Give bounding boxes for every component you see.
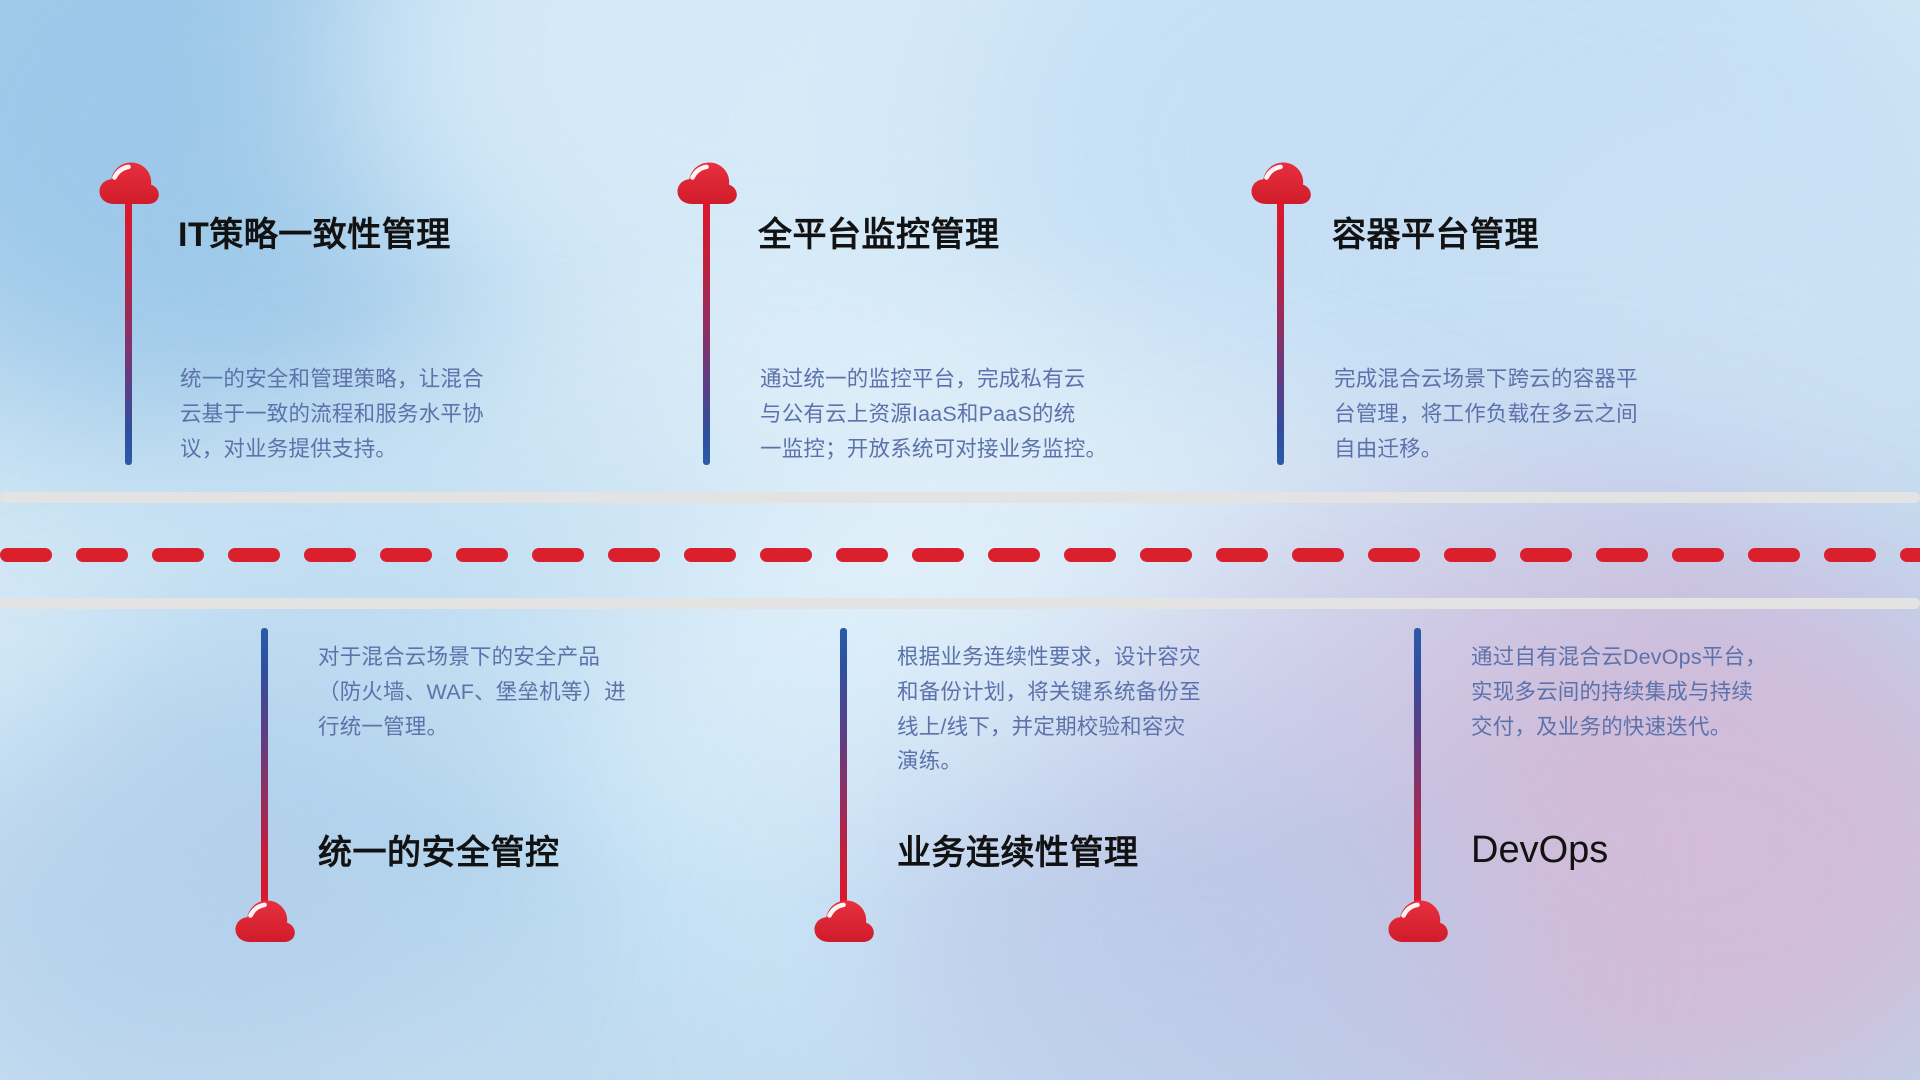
stem-line (125, 200, 132, 465)
road-dash (988, 548, 1040, 562)
description-line: 统一的安全和管理策略，让混合 (180, 362, 600, 397)
road-dash (1824, 548, 1876, 562)
description-line: （防火墙、WAF、堡垒机等）进 (318, 675, 738, 710)
road-dash (1520, 548, 1572, 562)
description-line: 通过统一的监控平台，完成私有云 (760, 362, 1180, 397)
description-line: 云基于一致的流程和服务水平协 (180, 397, 600, 432)
stem-line (1277, 200, 1284, 465)
description-line: 议，对业务提供支持。 (180, 432, 600, 467)
road-dash (684, 548, 736, 562)
item-title: 容器平台管理 (1332, 217, 1539, 254)
stem-line (703, 200, 710, 465)
road-dash (0, 548, 52, 562)
road-dash (1368, 548, 1420, 562)
road-dash (1900, 548, 1920, 562)
description-line: 通过自有混合云DevOps平台， (1471, 640, 1891, 675)
description-line: 与公有云上资源IaaS和PaaS的统 (760, 397, 1180, 432)
item-title: 全平台监控管理 (758, 217, 1000, 254)
item-title: DevOps (1471, 830, 1608, 872)
item-title: 统一的安全管控 (318, 835, 560, 872)
item-description: 统一的安全和管理策略，让混合 云基于一致的流程和服务水平协 议，对业务提供支持。 (180, 362, 600, 466)
item-description: 根据业务连续性要求，设计容灾 和备份计划，将关键系统备份至 线上/线下，并定期校… (897, 640, 1317, 779)
infographic-canvas: IT策略一致性管理 统一的安全和管理策略，让混合 云基于一致的流程和服务水平协 … (0, 0, 1920, 1080)
road-edge-top (0, 492, 1920, 503)
road-center-dashes (0, 547, 1920, 563)
road-dash (760, 548, 812, 562)
description-line: 台管理，将工作负载在多云之间 (1334, 397, 1754, 432)
description-line: 和备份计划，将关键系统备份至 (897, 675, 1317, 710)
description-line: 交付，及业务的快速迭代。 (1471, 710, 1891, 745)
item-description: 通过自有混合云DevOps平台， 实现多云间的持续集成与持续 交付，及业务的快速… (1471, 640, 1891, 744)
item-title: IT策略一致性管理 (178, 217, 451, 254)
description-line: 对于混合云场景下的安全产品 (318, 640, 738, 675)
road-dash (76, 548, 128, 562)
description-line: 线上/线下，并定期校验和容灾 (897, 710, 1317, 745)
road-dash (1672, 548, 1724, 562)
cloud-icon (813, 898, 875, 944)
road-dash (304, 548, 356, 562)
road-dash (1444, 548, 1496, 562)
road-dash (912, 548, 964, 562)
road-dash (532, 548, 584, 562)
description-line: 一监控；开放系统可对接业务监控。 (760, 432, 1180, 467)
road-dash (1596, 548, 1648, 562)
road-dash (1748, 548, 1800, 562)
item-description: 完成混合云场景下跨云的容器平 台管理，将工作负载在多云之间 自由迁移。 (1334, 362, 1754, 466)
item-title: 业务连续性管理 (897, 835, 1139, 872)
road-dash (1216, 548, 1268, 562)
stem-line (261, 628, 268, 910)
road-dash (836, 548, 888, 562)
cloud-icon (234, 898, 296, 944)
road-dash (456, 548, 508, 562)
road-dash (152, 548, 204, 562)
stem-line (840, 628, 847, 910)
item-description: 对于混合云场景下的安全产品 （防火墙、WAF、堡垒机等）进 行统一管理。 (318, 640, 738, 744)
description-line: 行统一管理。 (318, 710, 738, 745)
road-dash (228, 548, 280, 562)
item-description: 通过统一的监控平台，完成私有云 与公有云上资源IaaS和PaaS的统 一监控；开… (760, 362, 1180, 466)
road-edge-bottom (0, 598, 1920, 609)
cloud-icon (1387, 898, 1449, 944)
road-dash (608, 548, 660, 562)
road-dash (380, 548, 432, 562)
stem-line (1414, 628, 1421, 910)
road-dash (1140, 548, 1192, 562)
road-dash (1292, 548, 1344, 562)
description-line: 自由迁移。 (1334, 432, 1754, 467)
description-line: 根据业务连续性要求，设计容灾 (897, 640, 1317, 675)
description-line: 实现多云间的持续集成与持续 (1471, 675, 1891, 710)
description-line: 完成混合云场景下跨云的容器平 (1334, 362, 1754, 397)
road-dash (1064, 548, 1116, 562)
description-line: 演练。 (897, 744, 1317, 779)
